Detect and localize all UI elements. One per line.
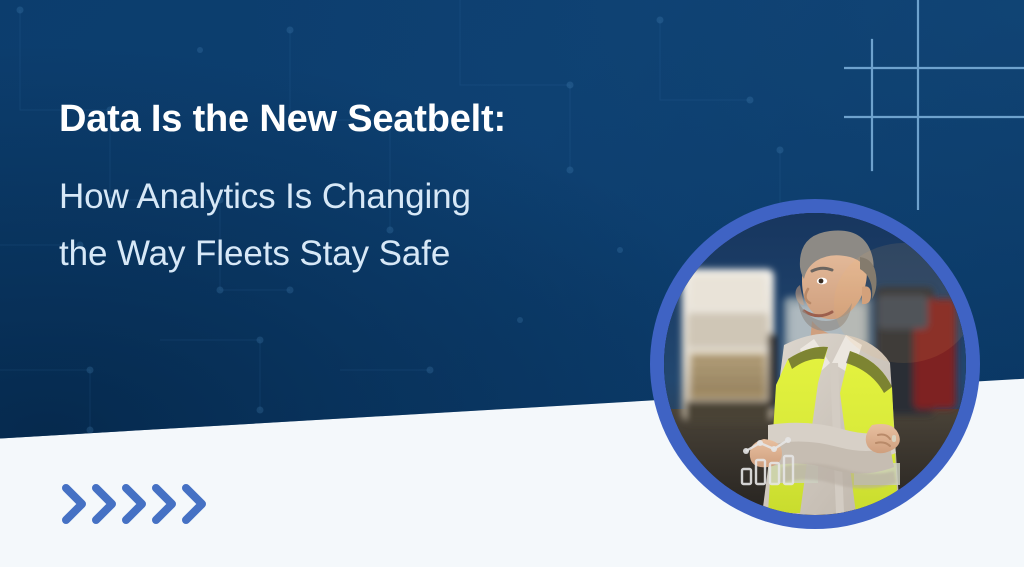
subtitle-line-2: the Way Fleets Stay Safe: [59, 225, 659, 282]
bar-chart-analytics-icon: [738, 435, 800, 487]
page-subtitle: How Analytics Is Changing the Way Fleets…: [59, 168, 659, 282]
subtitle-line-1: How Analytics Is Changing: [59, 168, 659, 225]
chevron-right-icon-group: [60, 478, 210, 530]
page-title: Data Is the New Seatbelt:: [59, 96, 659, 142]
avatar: [664, 213, 966, 515]
portrait-ring: [650, 199, 980, 529]
crosshatch-grid-lines: [844, 0, 1024, 210]
blog-hero-banner: Data Is the New Seatbelt: How Analytics …: [0, 0, 1024, 567]
headline-block: Data Is the New Seatbelt: How Analytics …: [59, 96, 659, 282]
fleet-manager-photo: [664, 213, 966, 515]
